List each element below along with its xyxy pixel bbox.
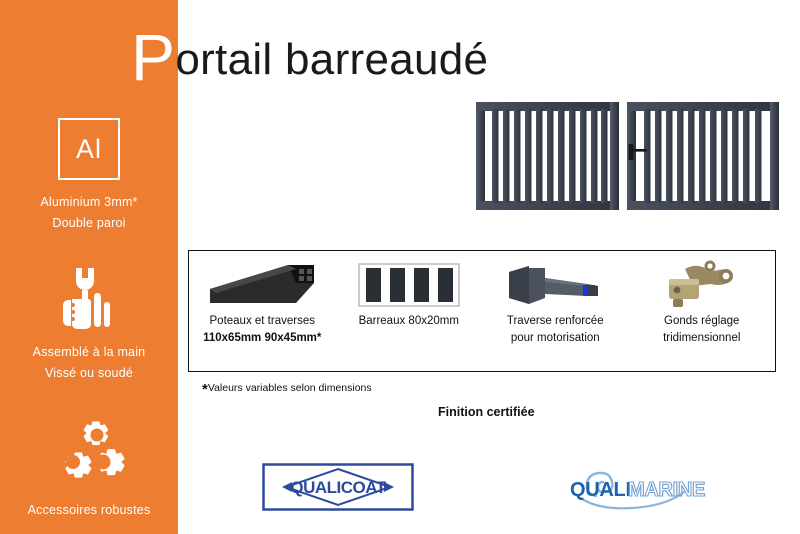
bars-grid-icon <box>357 257 461 313</box>
gate-leaf-left <box>476 102 619 210</box>
page-title: Portail barreaudé <box>131 24 488 90</box>
feature-crossbar-dimensions: pour motorisation <box>511 330 600 347</box>
product-spec-sheet: Al Aluminium 3mm* Double paroi <box>0 0 800 534</box>
gears-icon <box>0 414 178 500</box>
svg-text:QUALICOAT: QUALICOAT <box>290 478 386 497</box>
sidebar-block-aluminium-line-2: Double paroi <box>0 213 178 234</box>
post-profile-icon <box>204 257 320 313</box>
feature-posts-dimensions: 110x65mm 90x45mm* <box>203 330 321 347</box>
footnote-text: Valeurs variables selon dimensions <box>208 382 372 394</box>
sidebar-block-accessories-line-1: Accessoires robustes <box>0 500 178 521</box>
certification-heading: Finition certifiée <box>438 405 535 419</box>
gate-leaf-right <box>627 102 779 210</box>
features-panel: Poteaux et traverses 110x65mm 90x45mm* B… <box>188 250 776 372</box>
gate-illustration <box>470 88 785 216</box>
feature-bars: Barreaux 80x20mm <box>336 251 483 371</box>
hinge-icon <box>655 257 749 313</box>
aluminium-symbol-label: Al <box>58 118 120 180</box>
feature-crossbar-caption: Traverse renforcée <box>507 313 604 330</box>
aluminium-square-icon: Al <box>0 106 178 192</box>
sidebar-block-assembly-line-2: Vissé ou soudé <box>0 363 178 384</box>
qualicoat-logo: QUALICOAT <box>262 463 414 511</box>
reinforced-crossbar-icon <box>499 257 611 313</box>
feature-crossbar: Traverse renforcée pour motorisation <box>482 251 629 371</box>
sidebar-block-assembly: Assemblé à la main Vissé ou soudé <box>0 256 178 384</box>
feature-posts-caption: Poteaux et traverses <box>210 313 315 330</box>
feature-hinge: Gonds réglage tridimensionnel <box>629 251 776 371</box>
feature-hinge-dimensions: tridimensionnel <box>663 330 740 347</box>
svg-text:QUALI: QUALI <box>570 479 631 501</box>
svg-text:MARINE: MARINE <box>628 479 705 501</box>
sidebar-block-aluminium-line-1: Aluminium 3mm* <box>0 192 178 213</box>
feature-hinge-caption: Gonds réglage <box>664 313 739 330</box>
sidebar-block-accessories: Accessoires robustes <box>0 414 178 521</box>
qualimarine-logo: QUALI MARINE <box>562 466 712 512</box>
hand-wrench-icon <box>0 256 178 342</box>
feature-posts: Poteaux et traverses 110x65mm 90x45mm* <box>189 251 336 371</box>
sidebar-block-assembly-line-1: Assemblé à la main <box>0 342 178 363</box>
footnote: *Valeurs variables selon dimensions <box>202 381 372 398</box>
page-title-initial: P <box>131 20 175 94</box>
sidebar-block-aluminium: Al Aluminium 3mm* Double paroi <box>0 106 178 234</box>
page-title-rest: ortail barreaudé <box>175 35 488 84</box>
feature-bars-caption: Barreaux 80x20mm <box>359 313 459 330</box>
